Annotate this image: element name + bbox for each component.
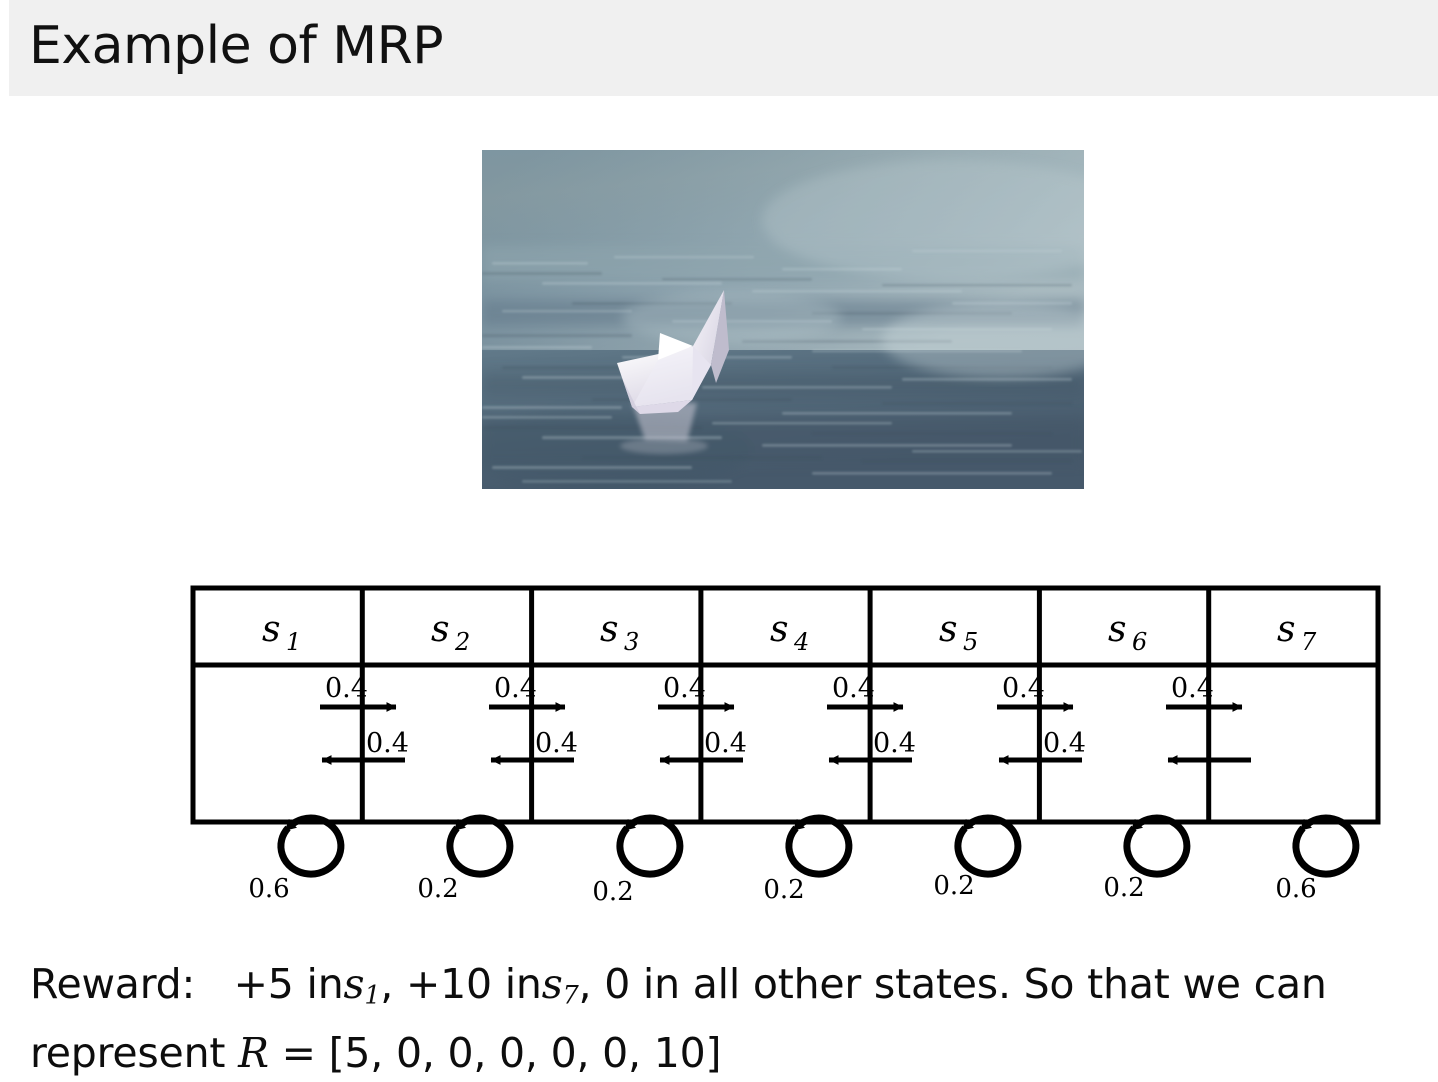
state-letter: s xyxy=(770,609,788,650)
transition-prob-left: 0.4 xyxy=(535,728,578,759)
caption-comma-1: , xyxy=(380,960,393,1008)
state-index: 2 xyxy=(454,628,470,656)
state-labels: s 1 s 2 s 3 s 4 s 5 s 6 xyxy=(262,609,1317,656)
state-letter: s xyxy=(1277,609,1295,650)
self-loop-prob-s5: 0.2 xyxy=(933,871,974,901)
mrp-chain-diagram: s 1 s 2 s 3 s 4 s 5 s 6 xyxy=(0,560,1438,920)
slide-header-bar: Example of MRP xyxy=(0,0,1438,96)
transition-prob-right: 0.4 xyxy=(494,673,537,704)
caption-reward-label: Reward: xyxy=(30,960,195,1008)
state-index: 5 xyxy=(963,628,978,656)
transition-prob-left: 0.4 xyxy=(704,728,747,759)
caption-reward-symbol: R xyxy=(238,1029,269,1077)
transition-prob-right: 0.4 xyxy=(832,673,875,704)
caption-plus10: +10 in xyxy=(406,960,542,1008)
state-index: 1 xyxy=(286,628,301,656)
state-label-s2: s 2 xyxy=(431,609,470,656)
caption-rest: , 0 in all other states. So that we can xyxy=(579,960,1327,1008)
state-index: 6 xyxy=(1132,628,1147,656)
state-label-s3: s 3 xyxy=(600,609,639,656)
self-loop-s1 xyxy=(281,818,341,874)
caption-reward-vector: [5, 0, 0, 0, 0, 0, 10] xyxy=(329,1029,722,1077)
caption-state-s1-letter: s xyxy=(343,960,364,1008)
self-loop-s6 xyxy=(1127,818,1187,874)
self-loop-prob-s6: 0.2 xyxy=(1103,873,1144,903)
state-index: 4 xyxy=(793,628,809,656)
self-loop-prob-s7: 0.6 xyxy=(1275,874,1316,904)
self-loop-s2 xyxy=(450,818,510,874)
transition-prob-left: 0.4 xyxy=(873,728,916,759)
state-label-s5: s 5 xyxy=(939,609,978,656)
reward-caption: Reward: +5 ins1, +10 ins7, 0 in all othe… xyxy=(30,955,1410,1082)
self-loop-s5 xyxy=(958,818,1018,874)
self-loop-s7 xyxy=(1296,818,1356,874)
transition-prob-left: 0.4 xyxy=(366,728,409,759)
state-letter: s xyxy=(431,609,449,650)
state-label-s1: s 1 xyxy=(262,609,301,656)
state-letter: s xyxy=(939,609,957,650)
paper-boat-on-water-photo xyxy=(482,150,1084,489)
state-label-s6: s 6 xyxy=(1108,609,1147,656)
caption-represent: represent xyxy=(30,1029,225,1077)
state-index: 3 xyxy=(624,628,639,656)
self-loop-s4 xyxy=(789,818,849,874)
transition-prob-right: 0.4 xyxy=(325,673,368,704)
transition-prob-right: 0.4 xyxy=(663,673,706,704)
state-label-s4: s 4 xyxy=(770,609,809,656)
caption-state-s7-index: 7 xyxy=(563,980,579,1010)
state-label-s7: s 7 xyxy=(1277,609,1317,656)
transition-prob-right: 0.4 xyxy=(1002,673,1045,704)
caption-plus5: +5 in xyxy=(234,960,344,1008)
self-loop-s3 xyxy=(620,818,680,874)
page-title: Example of MRP xyxy=(29,8,443,84)
state-index: 7 xyxy=(1301,628,1317,656)
self-loops xyxy=(281,818,1356,874)
self-loop-prob-s3: 0.2 xyxy=(592,877,633,907)
state-letter: s xyxy=(262,609,280,650)
transition-prob-left: 0.4 xyxy=(1043,728,1086,759)
caption-state-s1-index: 1 xyxy=(364,980,380,1010)
state-letter: s xyxy=(1108,609,1126,650)
caption-state-s7-letter: s xyxy=(542,960,563,1008)
caption-equals: = xyxy=(282,1029,316,1077)
state-letter: s xyxy=(600,609,618,650)
self-loop-prob-s4: 0.2 xyxy=(763,875,804,905)
self-loop-prob-s2: 0.2 xyxy=(417,874,458,904)
self-loop-prob-s1: 0.6 xyxy=(248,874,289,904)
transition-prob-right: 0.4 xyxy=(1171,673,1214,704)
